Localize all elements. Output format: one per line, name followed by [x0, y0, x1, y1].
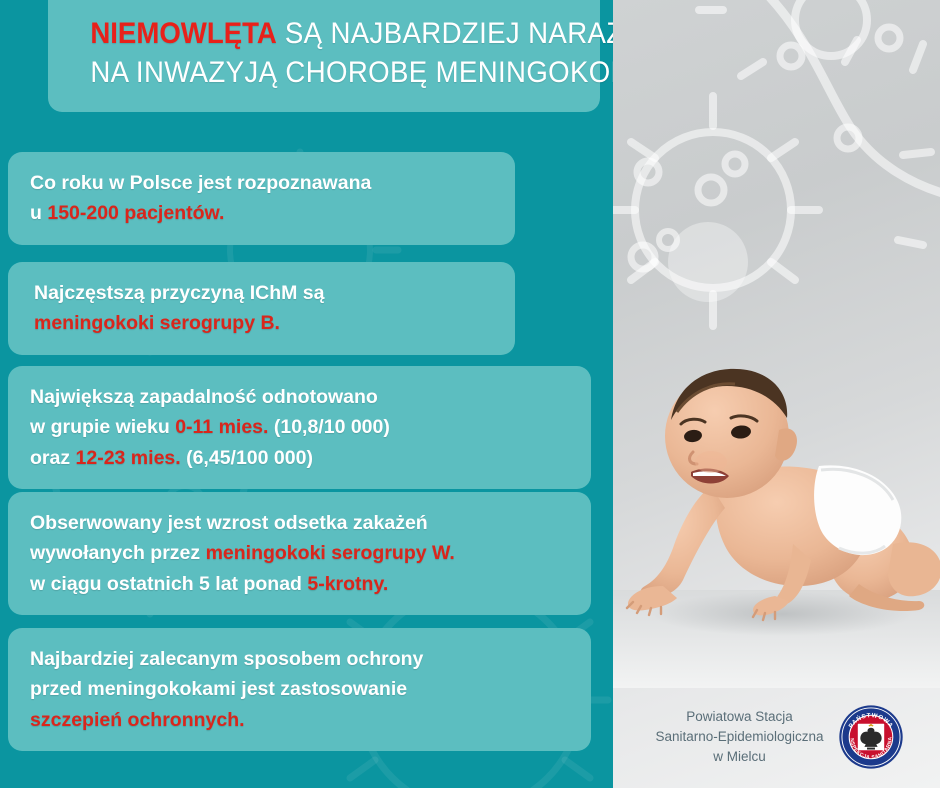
org-line-3: w Mielcu	[655, 747, 823, 767]
fact-line: wywołanych przez meningokoki serogrupy W…	[30, 538, 571, 568]
fact-text: wywołanych przez	[30, 542, 206, 564]
fact-card-annual-cases: Co roku w Polsce jest rozpoznawanau 150-…	[8, 152, 515, 245]
fact-line: Najczęstszą przyczyną IChM są	[34, 278, 495, 308]
infographic-poster: NIEMOWLĘTA SĄ NAJBARDZIEJ NARAŻONE NA IN…	[0, 0, 940, 788]
fact-text: (10,8/10 000)	[268, 416, 389, 438]
fact-highlight: meningokoki serogrupy B.	[34, 312, 280, 334]
fact-card-serogroup-w-increase: Obserwowany jest wzrost odsetka zakażeńw…	[8, 492, 591, 615]
fact-text: Największą zapadalność odnotowano	[30, 386, 378, 408]
fact-text: Najczęstszą przyczyną IChM są	[34, 282, 324, 304]
poster-headline: NIEMOWLĘTA SĄ NAJBARDZIEJ NARAŻONE NA IN…	[48, 0, 600, 112]
fact-card-incidence-by-age: Największą zapadalność odnotowanow grupi…	[8, 366, 591, 489]
fact-card-serogroup-b: Najczęstszą przyczyną IChM sąmeningokoki…	[8, 262, 515, 355]
fact-text: przed meningokokami jest zastosowanie	[30, 678, 407, 700]
fact-card-vaccination-advice: Najbardziej zalecanym sposobem ochronypr…	[8, 628, 591, 751]
fact-text: Najbardziej zalecanym sposobem ochrony	[30, 648, 423, 670]
fact-text: Co roku w Polsce jest rozpoznawana	[30, 172, 371, 194]
fact-line: Obserwowany jest wzrost odsetka zakażeń	[30, 508, 571, 538]
left-content-panel: NIEMOWLĘTA SĄ NAJBARDZIEJ NARAŻONE NA IN…	[0, 0, 613, 788]
fact-line: meningokoki serogrupy B.	[34, 308, 495, 338]
fact-highlight: meningokoki serogrupy W.	[206, 542, 455, 564]
headline-highlight: NIEMOWLĘTA	[90, 17, 277, 50]
footer-credit: Powiatowa Stacja Sanitarno-Epidemiologic…	[613, 704, 940, 770]
baby-photo	[613, 358, 940, 688]
fact-highlight: 150-200 pacjentów.	[47, 202, 224, 224]
headline-line-1: NIEMOWLĘTA SĄ NAJBARDZIEJ NARAŻONE	[90, 14, 557, 53]
fact-line: Co roku w Polsce jest rozpoznawana	[30, 168, 495, 198]
fact-line: szczepień ochronnych.	[30, 705, 571, 735]
fact-line: u 150-200 pacjentów.	[30, 198, 495, 228]
fact-highlight: 12-23 mies.	[76, 447, 181, 469]
fact-line: w ciągu ostatnich 5 lat ponad 5-krotny.	[30, 569, 571, 599]
right-photo-panel: Powiatowa Stacja Sanitarno-Epidemiologic…	[613, 0, 940, 788]
fact-line: Największą zapadalność odnotowano	[30, 382, 571, 412]
fact-text: w ciągu ostatnich 5 lat ponad	[30, 573, 307, 595]
fact-line: przed meningokokami jest zastosowanie	[30, 674, 571, 704]
org-line-1: Powiatowa Stacja	[655, 707, 823, 727]
fact-highlight: 5-krotny.	[307, 573, 388, 595]
fact-text: oraz	[30, 447, 76, 469]
fact-highlight: szczepień ochronnych.	[30, 709, 245, 731]
sanitary-inspection-logo: PAŃSTWOWA INSPEKCJA SANITARNA	[838, 704, 904, 770]
org-line-2: Sanitarno-Epidemiologiczna	[655, 727, 823, 747]
fact-text: u	[30, 202, 47, 224]
fact-line: w grupie wieku 0-11 mies. (10,8/10 000)	[30, 412, 571, 442]
fact-text: Obserwowany jest wzrost odsetka zakażeń	[30, 512, 428, 534]
fact-text: (6,45/100 000)	[181, 447, 313, 469]
headline-line-2: NA INWAZYJĄ CHOROBĘ MENINGOKOKOWĄ	[90, 53, 557, 92]
fact-line: oraz 12-23 mies. (6,45/100 000)	[30, 443, 571, 473]
fact-line: Najbardziej zalecanym sposobem ochrony	[30, 644, 571, 674]
headline-rest: SĄ NAJBARDZIEJ NARAŻONE	[277, 17, 613, 50]
organisation-name: Powiatowa Stacja Sanitarno-Epidemiologic…	[655, 707, 823, 767]
fact-highlight: 0-11 mies.	[175, 416, 268, 438]
fact-text: w grupie wieku	[30, 416, 175, 438]
